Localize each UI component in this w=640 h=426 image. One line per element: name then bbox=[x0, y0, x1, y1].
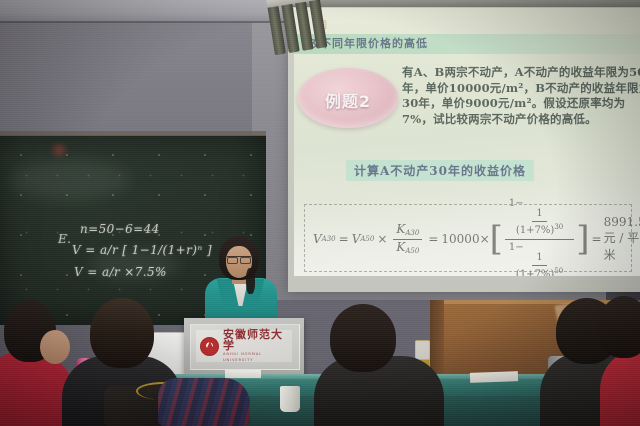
slide-body-text: 有A、B两宗不动产，A不动产的收益年限为50年，单价10000元/m²，B不动产… bbox=[402, 65, 640, 127]
lecture-hall-photo: E. n=50−6=44 V = a/r [ 1−1/(1+r)ⁿ ] V = … bbox=[0, 0, 640, 426]
formula-lhs-sub: A30 bbox=[322, 235, 336, 243]
formula-exp-bottom: 50 bbox=[554, 267, 563, 275]
formula-k-num-sub: A30 bbox=[405, 229, 419, 237]
university-name-en: ANHUI NORMAL UNIVERSITY bbox=[223, 351, 292, 363]
red-chalk-mark bbox=[48, 143, 70, 157]
formula-eq-3: = bbox=[592, 232, 602, 246]
formula-bracket-close: ] bbox=[576, 219, 589, 259]
formula-exp-top: 30 bbox=[554, 223, 563, 231]
formula-inner-one-bottom: 1 bbox=[532, 253, 546, 267]
presenter-hair-strand bbox=[246, 268, 255, 294]
slide-subheading: 计算A不动产30年的收益价格 bbox=[346, 160, 534, 181]
formula-inner-frac-top: 1(1+7%)30 bbox=[512, 209, 567, 237]
blackboard-line-3: V = a/r ×7.5% bbox=[74, 265, 167, 279]
formula-minus-top: − bbox=[515, 198, 523, 209]
formula-rhs-sub: A50 bbox=[360, 235, 374, 243]
formula-lhs-v: V bbox=[313, 232, 322, 246]
formula-inner-one-top: 1 bbox=[532, 209, 546, 223]
paper-sheet bbox=[225, 370, 261, 378]
audience-head bbox=[330, 304, 396, 372]
formula-result: 8991.57元 / 平方米 bbox=[604, 215, 640, 263]
formula-denominator: 1−1(1+7%)50 bbox=[505, 240, 574, 277]
formula-numerator: 1−1(1+7%)30 bbox=[505, 198, 574, 240]
formula-bracket-open: [ bbox=[490, 219, 503, 259]
formula-inner-frac-bottom: 1(1+7%)50 bbox=[512, 253, 567, 277]
formula-times-2: × bbox=[480, 232, 490, 246]
paper-sheet bbox=[470, 371, 518, 383]
formula-expression: VA30 = VA50 × KA30 KA50 = 10000 × [ 1−1(… bbox=[313, 219, 629, 259]
formula-k-ratio: KA30 KA50 bbox=[393, 223, 422, 255]
screen-roller bbox=[288, 0, 640, 7]
university-name-cn: 安徽师范大学 bbox=[223, 329, 292, 351]
formula-base-top: (1+7%) bbox=[516, 225, 554, 236]
blackboard-line-1: n=50−6=44 bbox=[80, 222, 160, 236]
audience-cheek bbox=[40, 330, 70, 364]
presentation-slide: 同 较不同年限价格的高低 例题2 有A、B两宗不动产，A不动产的收益年限为50年… bbox=[294, 8, 640, 276]
example-badge-label: 例题2 bbox=[298, 88, 398, 112]
example-badge: 例题2 bbox=[298, 68, 398, 128]
formula-base-bottom: (1+7%) bbox=[516, 269, 554, 276]
audience-head bbox=[598, 296, 640, 358]
blackboard-line-0: E. bbox=[58, 232, 71, 246]
formula-big-fraction: 1−1(1+7%)30 1−1(1+7%)50 bbox=[505, 198, 574, 277]
formula-minus-bottom: − bbox=[515, 242, 523, 253]
plaid-scarf bbox=[158, 378, 250, 426]
presenter-glasses bbox=[227, 256, 251, 263]
formula-eq-2: = bbox=[428, 232, 438, 246]
formula-eq-1: = bbox=[339, 232, 349, 246]
formula-k-den-sub: A50 bbox=[405, 247, 419, 255]
formula-coefficient: 10000 bbox=[441, 232, 479, 246]
university-crest-icon bbox=[200, 337, 219, 356]
university-name-block: 安徽师范大学 ANHUI NORMAL UNIVERSITY bbox=[223, 329, 292, 363]
blackboard-line-2: V = a/r [ 1−1/(1+r)ⁿ ] bbox=[72, 243, 212, 257]
slide-title: 较不同年限价格的高低 bbox=[308, 35, 608, 51]
formula-times-1: × bbox=[377, 232, 387, 246]
university-plate: 安徽师范大学 ANHUI NORMAL UNIVERSITY bbox=[196, 330, 292, 362]
paper-cup bbox=[280, 386, 300, 412]
chalk-smudge bbox=[10, 160, 130, 200]
formula-box: VA30 = VA50 × KA30 KA50 = 10000 × [ 1−1(… bbox=[304, 204, 632, 272]
audience-head bbox=[90, 298, 154, 368]
